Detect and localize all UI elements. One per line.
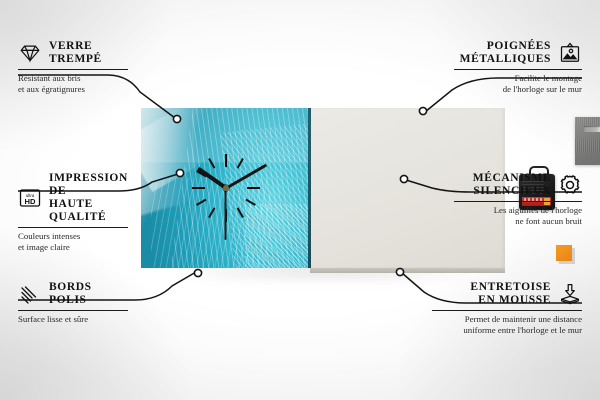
- callout-entretoise-en-mousse: ENTRETOISE EN MOUSSE Permet de maintenir…: [432, 281, 582, 335]
- clock-tick-mark: [208, 158, 215, 169]
- callout-header: VERRE TREMPÉ: [18, 40, 128, 66]
- callout-rule: [454, 201, 582, 202]
- callout-title: MÉCANISME SILENCIEUX: [473, 172, 551, 198]
- callout-rule: [454, 69, 582, 70]
- diamond-icon: [18, 41, 42, 65]
- callout-rule: [18, 69, 128, 70]
- back-panel-bottom-edge: [310, 268, 505, 273]
- callout-subtitle: Permet de maintenir une distance uniform…: [432, 314, 582, 335]
- callout-subtitle: Facilite le montage de l'horloge sur le …: [454, 73, 582, 94]
- callout-header: BORDS POLIS: [18, 281, 128, 307]
- callout-header: MÉCANISME SILENCIEUX: [454, 172, 582, 198]
- callout-subtitle: Surface lisse et sûre: [18, 314, 128, 325]
- ultra-hd-icon: ultra HD: [18, 186, 42, 210]
- infographic-canvas: VERRE TREMPÉ Résistant aux bris et aux é…: [0, 0, 600, 400]
- callout-poignees-metalliques: POIGNÉES MÉTALLIQUES Facilite le montage…: [454, 40, 582, 94]
- clock-face: [141, 108, 311, 268]
- callout-subtitle: Couleurs intenses et image claire: [18, 231, 128, 252]
- svg-text:HD: HD: [25, 197, 36, 206]
- callout-title: ENTRETOISE EN MOUSSE: [470, 281, 551, 307]
- clock-tick-mark: [192, 187, 205, 189]
- callout-header: ultra HD IMPRESSION DE HAUTE QUALITÉ: [18, 172, 128, 224]
- callout-subtitle: Les aiguilles de l'horloge ne font aucun…: [454, 205, 582, 226]
- callout-bords-polis: BORDS POLIS Surface lisse et sûre: [18, 281, 128, 325]
- clock-tick-mark: [208, 207, 215, 218]
- hanger-slot: [584, 126, 600, 132]
- foam-spacer: [556, 245, 572, 261]
- polished-edges-icon: [18, 282, 42, 306]
- clock-right-rim: [308, 108, 311, 268]
- picture-hanger-icon: [558, 41, 582, 65]
- callout-header: POIGNÉES MÉTALLIQUES: [454, 40, 582, 66]
- callout-rule: [18, 310, 128, 311]
- callout-rule: [432, 310, 582, 311]
- metal-hanger-plate: [575, 117, 600, 165]
- callout-impression-haute-qualite: ultra HD IMPRESSION DE HAUTE QUALITÉ Cou…: [18, 172, 128, 252]
- clock-tick-mark: [196, 199, 207, 206]
- callout-subtitle: Résistant aux bris et aux égratignures: [18, 73, 128, 94]
- callout-title: VERRE TREMPÉ: [49, 40, 102, 66]
- callout-rule: [18, 227, 128, 228]
- product-image: [141, 108, 505, 273]
- callout-title: BORDS POLIS: [49, 281, 92, 307]
- callout-title: POIGNÉES MÉTALLIQUES: [460, 40, 551, 66]
- callout-title: IMPRESSION DE HAUTE QUALITÉ: [49, 172, 128, 224]
- callout-header: ENTRETOISE EN MOUSSE: [432, 281, 582, 307]
- callout-verre-trempe: VERRE TREMPÉ Résistant aux bris et aux é…: [18, 40, 128, 94]
- clock-dial: [141, 108, 311, 268]
- gear-icon: [558, 173, 582, 197]
- foam-spacer-icon: [558, 282, 582, 306]
- callout-mecanisme-silencieux: MÉCANISME SILENCIEUX Les aiguilles de l'…: [454, 172, 582, 226]
- clock-center-cap: [223, 185, 229, 191]
